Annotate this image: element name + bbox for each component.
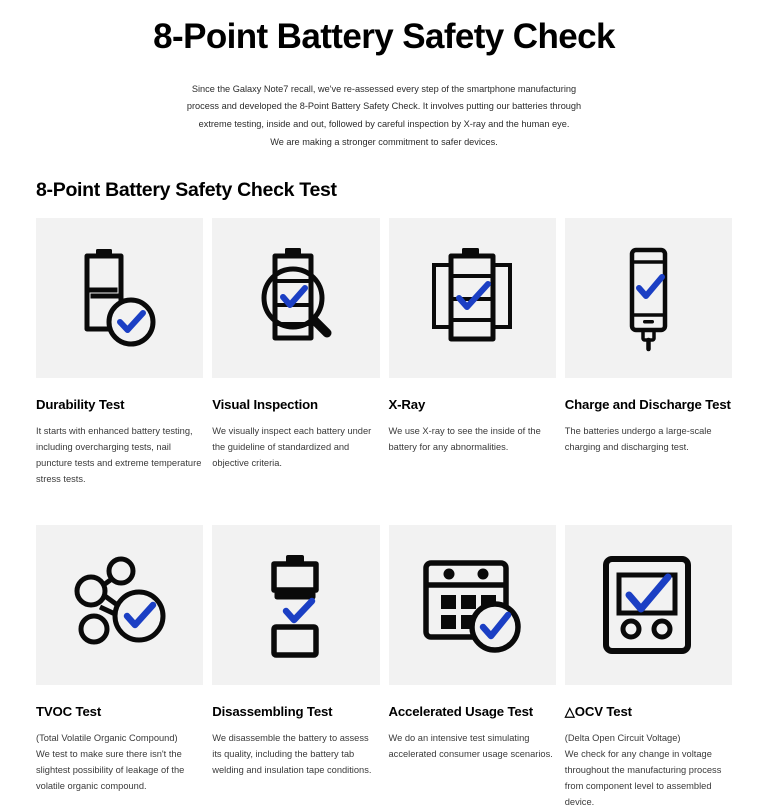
molecule-nodes-check-icon xyxy=(68,553,172,657)
test-card-visual-inspection[interactable]: Visual Inspection We visually inspect ea… xyxy=(212,218,379,487)
voltmeter-check-icon xyxy=(598,553,698,657)
page-root: 8-Point Battery Safety Check Since the G… xyxy=(0,0,768,807)
card-icon-frame xyxy=(389,525,556,685)
test-card-ocv[interactable]: △OCV Test (Delta Open Circuit Voltage) W… xyxy=(565,525,732,807)
test-card-tvoc[interactable]: TVOC Test (Total Volatile Organic Compou… xyxy=(36,525,203,807)
card-icon-frame xyxy=(212,218,379,378)
card-description: (Delta Open Circuit Voltage) We check fo… xyxy=(565,730,732,807)
card-description: We visually inspect each battery under t… xyxy=(212,423,379,472)
page-title: 8-Point Battery Safety Check xyxy=(0,18,768,57)
card-title: Disassembling Test xyxy=(212,703,379,720)
battery-xray-film-icon xyxy=(426,243,518,353)
card-title: Accelerated Usage Test xyxy=(389,703,556,720)
test-card-disassembling[interactable]: Disassembling Test We disassemble the ba… xyxy=(212,525,379,807)
test-card-grid-row-2: TVOC Test (Total Volatile Organic Compou… xyxy=(36,525,732,807)
hero-paragraph-line: Since the Galaxy Note7 recall, we've re-… xyxy=(169,81,599,99)
battery-magnifier-icon xyxy=(250,243,342,353)
card-icon-frame xyxy=(212,525,379,685)
test-card-charge-discharge[interactable]: Charge and Discharge Test The batteries … xyxy=(565,218,732,487)
section-heading: 8-Point Battery Safety Check Test xyxy=(36,179,768,202)
hero-section: 8-Point Battery Safety Check Since the G… xyxy=(0,0,768,152)
card-title: TVOC Test xyxy=(36,703,203,720)
grid-row-spacer xyxy=(0,487,768,509)
card-description: The batteries undergo a large-scale char… xyxy=(565,423,732,455)
card-description: It starts with enhanced battery testing,… xyxy=(36,423,203,488)
hero-paragraph-line: process and developed the 8-Point Batter… xyxy=(169,98,599,116)
card-title: Visual Inspection xyxy=(212,396,379,413)
card-description: (Total Volatile Organic Compound) We tes… xyxy=(36,730,203,795)
card-icon-frame xyxy=(36,525,203,685)
calendar-check-circle-icon xyxy=(420,555,524,655)
card-description: We use X-ray to see the inside of the ba… xyxy=(389,423,556,455)
card-icon-frame xyxy=(36,218,203,378)
card-icon-frame xyxy=(565,218,732,378)
card-icon-frame xyxy=(565,525,732,685)
phone-charging-cable-icon xyxy=(602,243,694,353)
hero-paragraph: Since the Galaxy Note7 recall, we've re-… xyxy=(169,81,599,153)
battery-check-circle-icon xyxy=(74,243,166,353)
battery-split-check-icon xyxy=(250,551,342,659)
card-icon-frame xyxy=(389,218,556,378)
test-card-xray[interactable]: X-Ray We use X-ray to see the inside of … xyxy=(389,218,556,487)
test-card-durability[interactable]: Durability Test It starts with enhanced … xyxy=(36,218,203,487)
test-card-grid-row-1: Durability Test It starts with enhanced … xyxy=(36,218,732,487)
card-title: Durability Test xyxy=(36,396,203,413)
test-card-accelerated-usage[interactable]: Accelerated Usage Test We do an intensiv… xyxy=(389,525,556,807)
card-title: △OCV Test xyxy=(565,703,732,720)
card-description: We disassemble the battery to assess its… xyxy=(212,730,379,779)
card-title: Charge and Discharge Test xyxy=(565,396,732,413)
card-description: We do an intensive test simulating accel… xyxy=(389,730,556,762)
hero-paragraph-line: We are making a stronger commitment to s… xyxy=(169,134,599,152)
card-title: X-Ray xyxy=(389,396,556,413)
hero-paragraph-line: extreme testing, inside and out, followe… xyxy=(169,116,599,134)
